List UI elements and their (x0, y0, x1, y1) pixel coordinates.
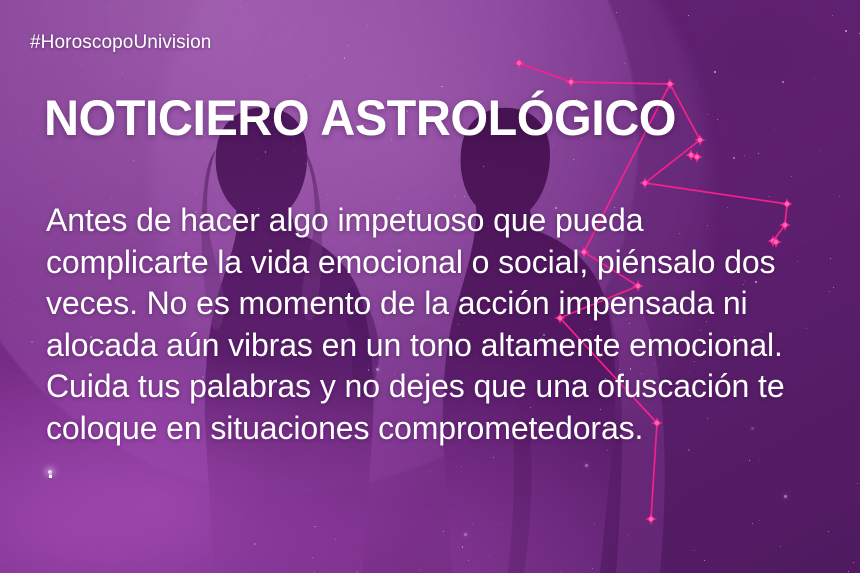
horoscope-body-text: Antes de hacer algo impetuoso que pueda … (46, 200, 836, 449)
hashtag-label: #HoroscopoUnivision (30, 32, 211, 54)
constellation-star-node (513, 57, 525, 69)
trailing-period: . (46, 447, 55, 489)
page-title: NOTICIERO ASTROLÓGICO (44, 92, 676, 144)
horoscope-card: #HoroscopoUnivision NOTICIERO ASTROLÓGIC… (0, 0, 860, 573)
constellation-star-node (645, 513, 657, 525)
constellation-edge (645, 140, 700, 183)
constellation-star-node (664, 78, 676, 90)
constellation-edge (519, 63, 571, 82)
constellation-star-node (565, 76, 577, 88)
constellation-edge (571, 82, 670, 84)
constellation-star-node (691, 151, 703, 163)
